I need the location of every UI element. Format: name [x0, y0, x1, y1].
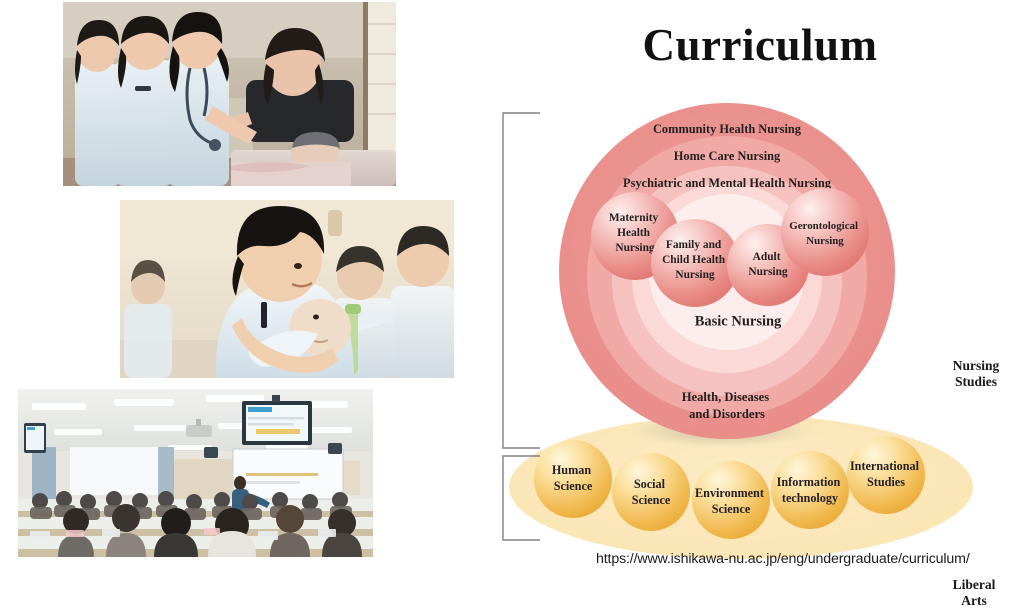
ring-label-psychiatric-mental-health-nursing: Psychiatric and Mental Health Nursing — [623, 176, 832, 190]
bubble-gerontological-nursing: Gerontological Nursing — [781, 188, 869, 276]
foundation-line-1: Health, Diseases — [682, 390, 770, 404]
bubble-line: International — [850, 459, 920, 473]
bubble-line: Adult — [753, 251, 781, 263]
curriculum-diagram-svg: Community Health Nursing Home Care Nursi… — [470, 100, 1024, 576]
bubble-information-technology: Information technology — [771, 451, 849, 529]
bubble-line: Health — [617, 227, 651, 239]
bubble-line: Nursing — [675, 269, 715, 281]
curriculum-diagram: Community Health Nursing Home Care Nursi… — [470, 100, 1024, 576]
bubble-line: Science — [554, 479, 593, 493]
bubble-social-science: Social Science — [612, 453, 690, 531]
photo-lecture-hall-art — [18, 389, 373, 557]
bubble-line: Science — [632, 493, 671, 507]
source-url-text: https://www.ishikawa-nu.ac.jp/eng/underg… — [596, 551, 1016, 567]
bubble-line: Nursing — [748, 266, 788, 278]
bubble-line: Child Health — [662, 254, 726, 266]
bracket-nursing-studies — [503, 113, 540, 448]
slide-root: Curriculum — [0, 0, 1024, 576]
page-title: Curriculum — [560, 22, 960, 69]
bubble-line: Social — [634, 477, 666, 491]
foundation-line-2: and Disorders — [689, 407, 765, 421]
photo-lecture-hall — [18, 389, 373, 557]
ring-label-home-care-nursing: Home Care Nursing — [674, 149, 781, 163]
bubble-human-science: Human Science — [534, 440, 612, 518]
photo-classroom-practice-art — [63, 2, 396, 186]
bubble-line: technology — [782, 491, 838, 505]
bubble-line: Nursing — [806, 235, 844, 247]
bubble-line: Studies — [867, 475, 905, 489]
bubble-line: Gerontological — [789, 220, 858, 232]
bubble-line: Human — [552, 463, 592, 477]
ring-label-community-health-nursing: Community Health Nursing — [653, 122, 802, 136]
bracket-label-liberal-arts: Liberal Arts — [943, 577, 1005, 610]
bubble-family-and-child-health-nursing: Family and Child Health Nursing — [651, 219, 739, 307]
bubble-line: Maternity — [609, 212, 659, 224]
bubble-line: Family and — [666, 239, 722, 251]
bubble-environment-science: Environment Science — [692, 461, 770, 539]
bubble-line: Information — [777, 475, 841, 489]
photo-infant-care — [120, 200, 454, 378]
bubble-line: Nursing — [615, 242, 655, 254]
bubble-international-studies: International Studies — [847, 436, 925, 514]
photo-classroom-practice — [63, 2, 396, 186]
bracket-label-nursing-studies: Nursing Studies — [943, 358, 1009, 391]
bubble-line: Science — [712, 502, 751, 516]
bubble-line: Environment — [695, 486, 764, 500]
photo-infant-care-art — [120, 200, 454, 378]
nursing-studies-group: Community Health Nursing Home Care Nursi… — [559, 103, 895, 439]
basic-nursing-label: Basic Nursing — [695, 313, 782, 329]
